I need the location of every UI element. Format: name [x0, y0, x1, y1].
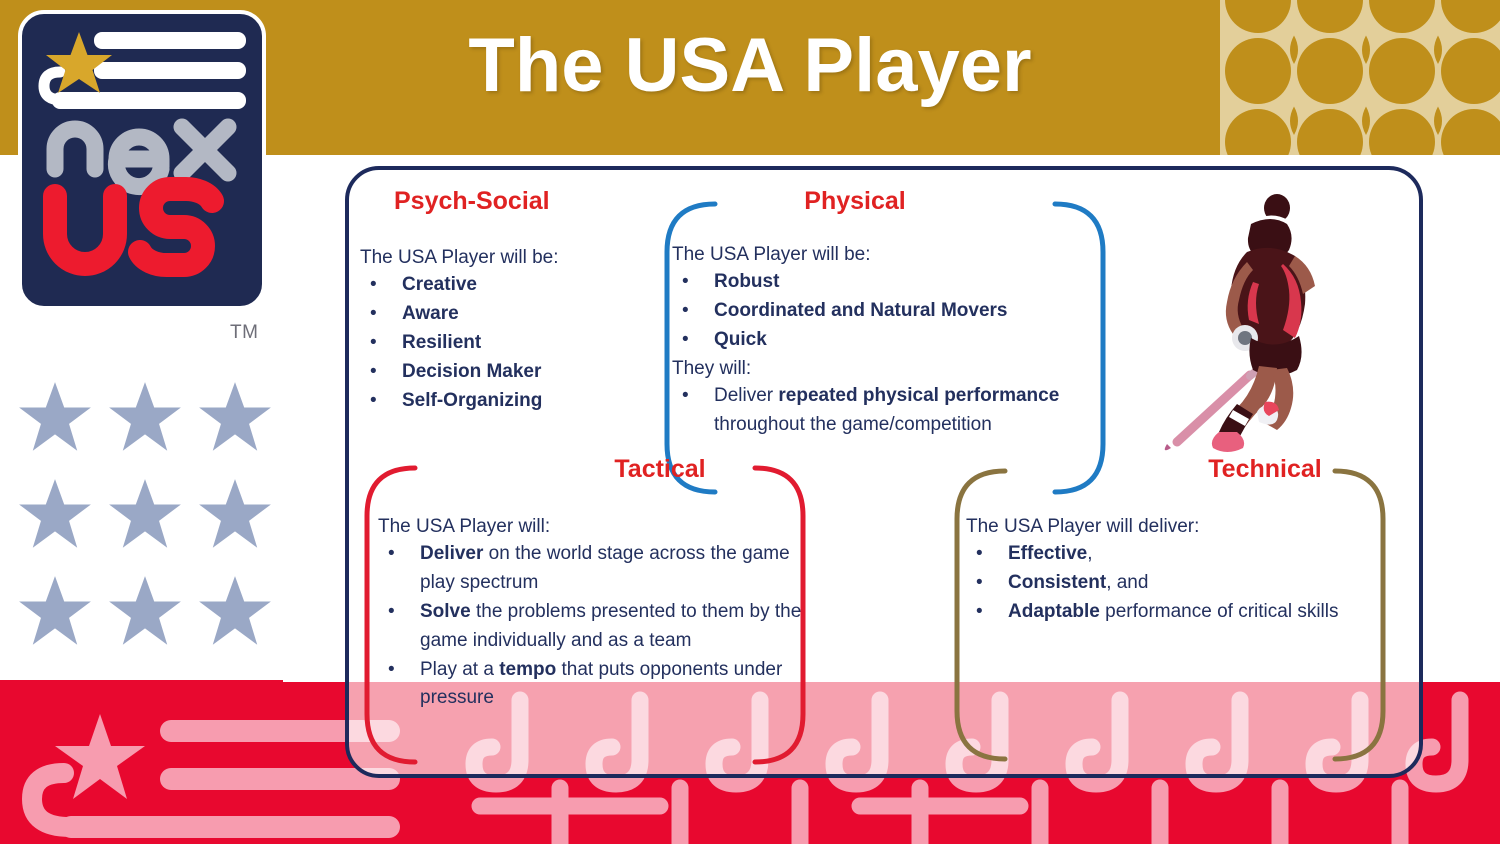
list-item: Consistent, and [966, 569, 1410, 598]
list-item: Quick [672, 326, 1110, 355]
quadrant-list: Robust Coordinated and Natural Movers Qu… [672, 268, 1110, 355]
star-icon [106, 573, 184, 651]
field-hockey-player-image [1155, 190, 1370, 455]
list-item: Effective, [966, 540, 1410, 569]
quadrant-psych-social: Psych-Social The USA Player will be: Cre… [360, 188, 660, 415]
list-item: Decision Maker [360, 358, 660, 387]
star-icon [106, 476, 184, 554]
list-item: Deliver on the world stage across the ga… [378, 540, 810, 598]
quadrant-physical: Physical The USA Player will be: Robust … [660, 188, 1110, 440]
trademark-mark: TM [230, 322, 258, 344]
quadrant-list: Creative Aware Resilient Decision Maker … [360, 271, 660, 415]
quadrant-technical: Technical The USA Player will deliver: E… [950, 456, 1410, 627]
quadrant-title: Technical [950, 456, 1410, 484]
quadrant-lead: The USA Player will: [378, 513, 810, 541]
logo: TM [18, 10, 283, 355]
quadrant-lead-secondary: They will: [672, 355, 1110, 383]
quadrant-list-secondary: Deliver repeated physical performance th… [672, 382, 1110, 440]
list-item: Deliver repeated physical performance th… [672, 382, 1110, 440]
list-item: Self-Organizing [360, 387, 660, 416]
star-icon [16, 476, 94, 554]
quadrant-title: Psych-Social [360, 188, 660, 216]
list-item: Robust [672, 268, 1110, 297]
list-item: Solve the problems presented to them by … [378, 598, 810, 656]
list-item: Play at a tempo that puts opponents unde… [378, 656, 810, 714]
star-grid-decoration [10, 370, 280, 660]
quadrant-title: Tactical [360, 456, 810, 484]
star-icon [16, 573, 94, 651]
nexus-logo-card [18, 10, 266, 310]
field-hockey-player-illustration-icon [1155, 190, 1370, 455]
quadrant-lead: The USA Player will be: [360, 244, 660, 272]
list-item: Aware [360, 300, 660, 329]
quadrant-list: Effective, Consistent, and Adaptable per… [966, 540, 1410, 627]
star-icon [196, 379, 274, 457]
list-item: Coordinated and Natural Movers [672, 297, 1110, 326]
star-icon [106, 379, 184, 457]
star-icon [196, 573, 274, 651]
page-title: The USA Player [300, 22, 1200, 109]
quadrant-list: Deliver on the world stage across the ga… [378, 540, 810, 713]
list-item: Adaptable performance of critical skills [966, 598, 1410, 627]
quadrant-title: Physical [660, 188, 1110, 216]
quadrant-tactical: Tactical The USA Player will: Deliver on… [360, 456, 810, 713]
list-item: Creative [360, 271, 660, 300]
gold-ring-lattice-icon [1200, 0, 1500, 155]
nexus-logo-mark-icon [22, 14, 266, 310]
quadrant-lead: The USA Player will deliver: [966, 513, 1410, 541]
star-icon [16, 379, 94, 457]
star-icon [196, 476, 274, 554]
quadrant-lead: The USA Player will be: [672, 241, 1110, 269]
list-item: Resilient [360, 329, 660, 358]
